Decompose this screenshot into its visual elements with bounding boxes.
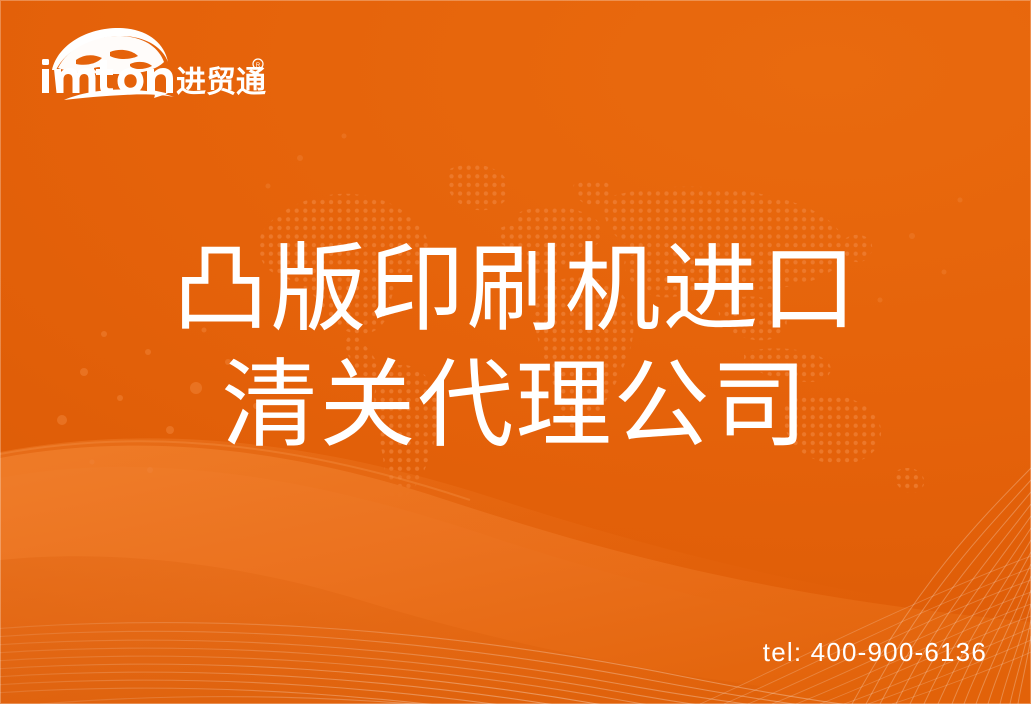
contact-phone[interactable]: tel: 400-900-6136	[763, 637, 987, 668]
svg-text:R: R	[256, 63, 261, 69]
headline-block: 凸版印刷机进口 清关代理公司	[0, 232, 1031, 464]
promo-banner: 进贸通 R 凸版印刷机进口 清关代理公司 tel: 400-900-6136	[0, 0, 1031, 704]
logo-chinese-name: 进贸通	[176, 66, 266, 99]
company-logo[interactable]: 进贸通 R	[36, 24, 266, 100]
swoosh-icon	[64, 89, 174, 100]
headline-line-2: 清关代理公司	[0, 348, 1031, 464]
headline-line-1: 凸版印刷机进口	[0, 232, 1031, 348]
globe-icon	[52, 28, 168, 74]
